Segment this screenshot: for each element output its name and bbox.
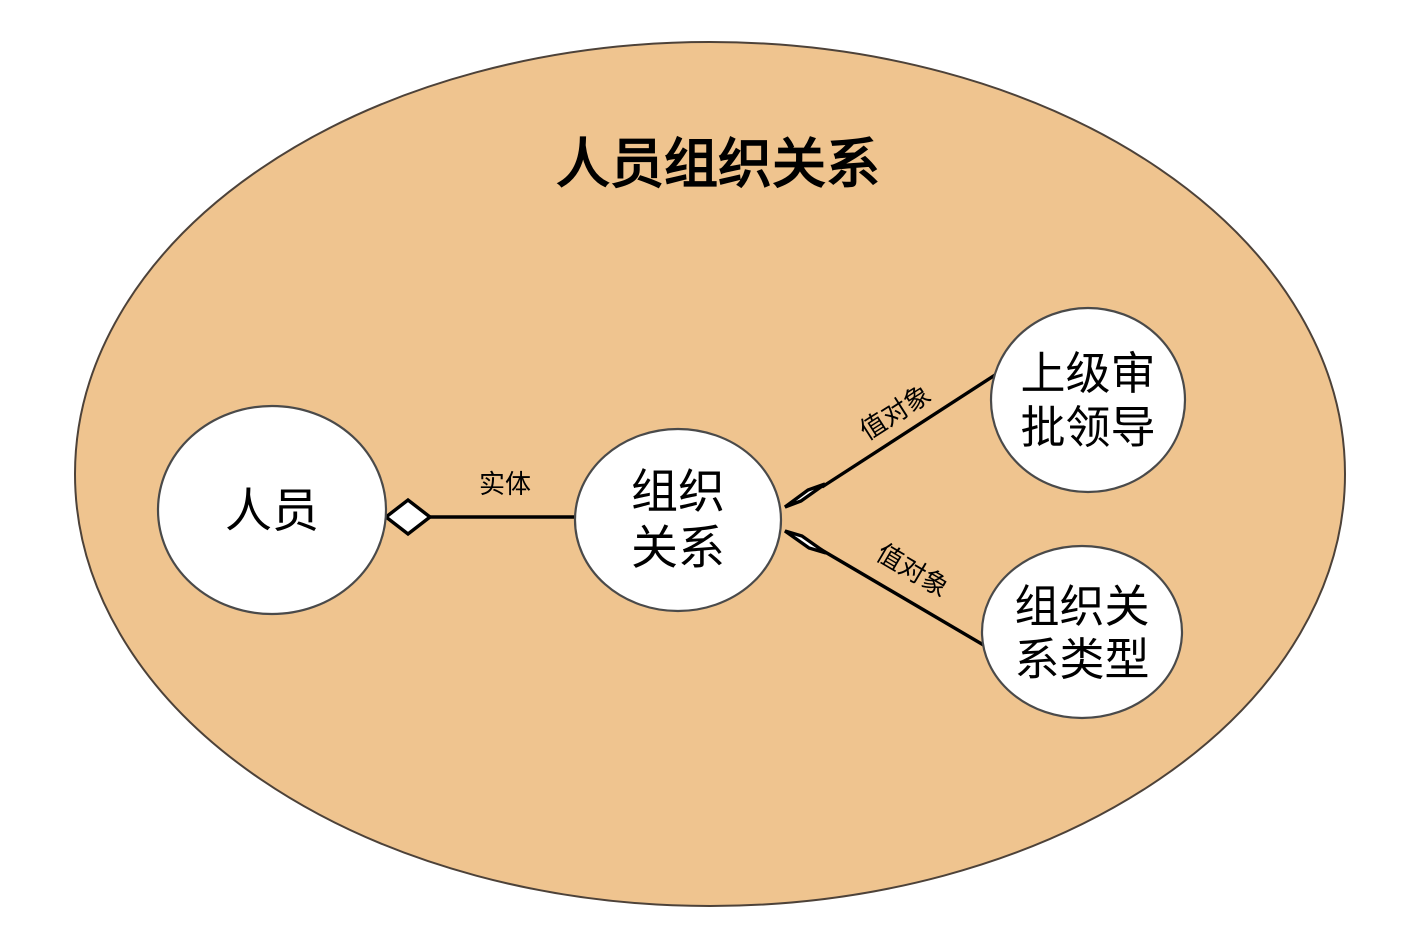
node-org-relation-type-label-line2: 系类型 xyxy=(1014,633,1149,686)
node-superior-approval-leader-ellipse xyxy=(991,308,1185,492)
node-person-label: 人员 xyxy=(225,484,319,539)
node-org-relation-ellipse xyxy=(575,429,781,611)
node-superior-approval-leader-label-line2: 批领导 xyxy=(1020,401,1155,454)
node-superior-approval-leader[interactable]: 上级审 批领导 xyxy=(991,308,1185,492)
domain-model-diagram: 人员组织关系 实体 值对象 值对象 人员 组织 关系 xyxy=(0,0,1426,946)
node-org-relation-label-line2: 关系 xyxy=(631,521,725,576)
diagram-canvas: 人员组织关系 实体 值对象 值对象 人员 组织 关系 xyxy=(0,0,1426,946)
context-title: 人员组织关系 xyxy=(556,133,880,196)
node-superior-approval-leader-label-line1: 上级审 xyxy=(1020,347,1155,400)
edge-entity-label: 实体 xyxy=(479,470,531,500)
node-org-relation-type-label-line1: 组织关 xyxy=(1014,580,1149,633)
node-person[interactable]: 人员 xyxy=(158,406,386,614)
node-org-relation-type[interactable]: 组织关 系类型 xyxy=(982,546,1182,718)
node-org-relation-label-line1: 组织 xyxy=(631,465,725,520)
node-org-relation[interactable]: 组织 关系 xyxy=(575,429,781,611)
